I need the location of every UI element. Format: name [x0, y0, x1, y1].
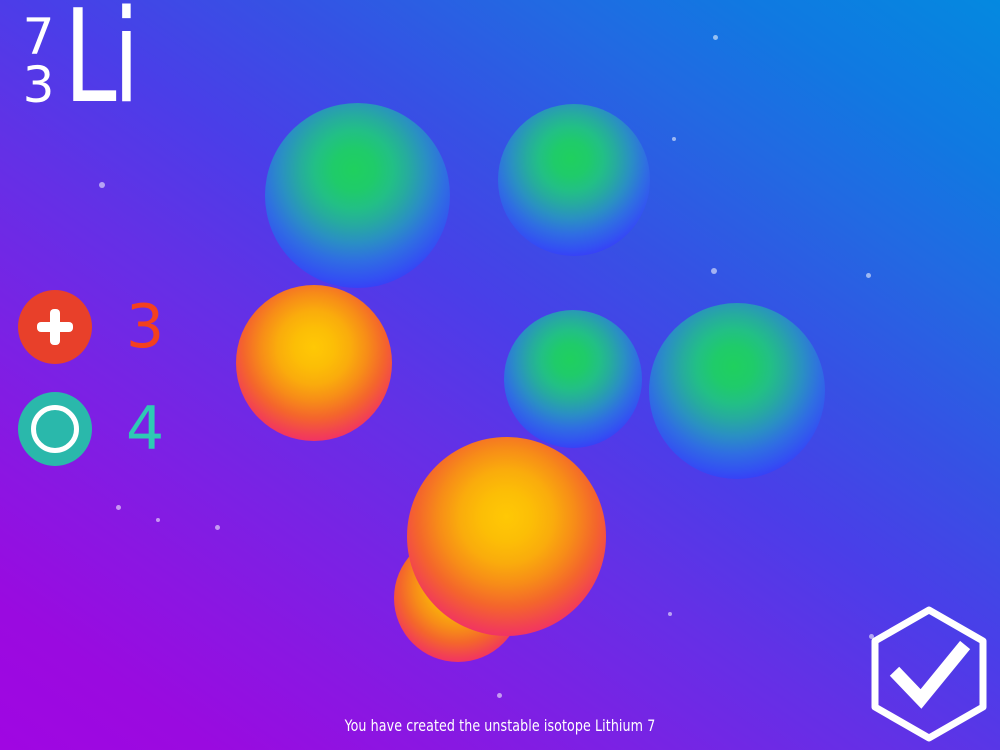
sparkle-dot — [711, 268, 717, 274]
particle-counters: 3 4 — [18, 288, 163, 492]
game-screen: 7 3 Li 3 4 You have created the unstable… — [0, 0, 1000, 750]
isotope-numbers: 7 3 — [18, 8, 58, 122]
atomic-number: 3 — [18, 62, 58, 108]
isotope-label: 7 3 Li — [18, 8, 152, 122]
sparkle-dot — [99, 182, 105, 188]
sparkle-dot — [713, 35, 718, 40]
proton-particle[interactable] — [236, 285, 392, 441]
neutron-particle[interactable] — [498, 104, 650, 256]
plus-circle-icon[interactable] — [18, 290, 92, 364]
sparkle-dot — [497, 693, 502, 698]
sparkle-dot — [672, 137, 676, 141]
sparkle-dot — [866, 273, 871, 278]
neutron-count: 4 — [126, 399, 163, 459]
sparkle-dot — [156, 518, 160, 522]
sparkle-dot — [215, 525, 220, 530]
proton-count: 3 — [126, 297, 163, 357]
neutron-particle[interactable] — [649, 303, 825, 479]
sparkle-dot — [668, 612, 672, 616]
ring-circle-icon[interactable] — [18, 392, 92, 466]
mass-number: 7 — [18, 14, 58, 60]
proton-particle[interactable] — [407, 437, 606, 636]
neutron-particle[interactable] — [265, 103, 450, 288]
sparkle-dot — [116, 505, 121, 510]
neutron-particle[interactable] — [504, 310, 642, 448]
status-message: You have created the unstable isotope Li… — [60, 716, 940, 735]
proton-counter[interactable]: 3 — [18, 288, 163, 366]
element-symbol: Li — [64, 0, 136, 122]
neutron-counter[interactable]: 4 — [18, 390, 163, 468]
